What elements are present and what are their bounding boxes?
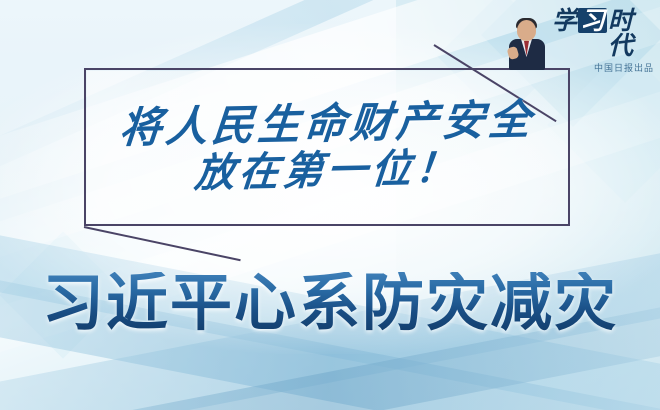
brand-text-block: 学 习 时代 中国日报出品 — [552, 8, 654, 74]
main-title: 习近平心系防灾减灾 — [0, 272, 660, 334]
brand-subtitle: 中国日报出品 — [594, 61, 654, 74]
calligraphy-line-1: 将人民生命财产安全 — [118, 98, 537, 151]
frame-diagonal-bottom-left — [84, 226, 241, 261]
portrait-avatar — [504, 12, 550, 70]
brand-name-boxed-char: 习 — [578, 8, 607, 33]
portrait-head — [517, 20, 536, 41]
calligraphy-quote: 将人民生命财产安全 放在第一位！ — [84, 68, 570, 226]
brand-name-part2: 时代 — [608, 8, 654, 58]
brand-name: 学 习 时代 — [552, 8, 654, 58]
brand-name-part1: 学 — [552, 8, 577, 33]
poster-canvas: 将人民生命财产安全 放在第一位！ 习近平心系防灾减灾 学 习 时代 中国日报出品 — [0, 0, 660, 410]
calligraphy-line-2: 放在第一位！ — [193, 147, 461, 195]
brand-logo[interactable]: 学 习 时代 中国日报出品 — [504, 8, 654, 74]
